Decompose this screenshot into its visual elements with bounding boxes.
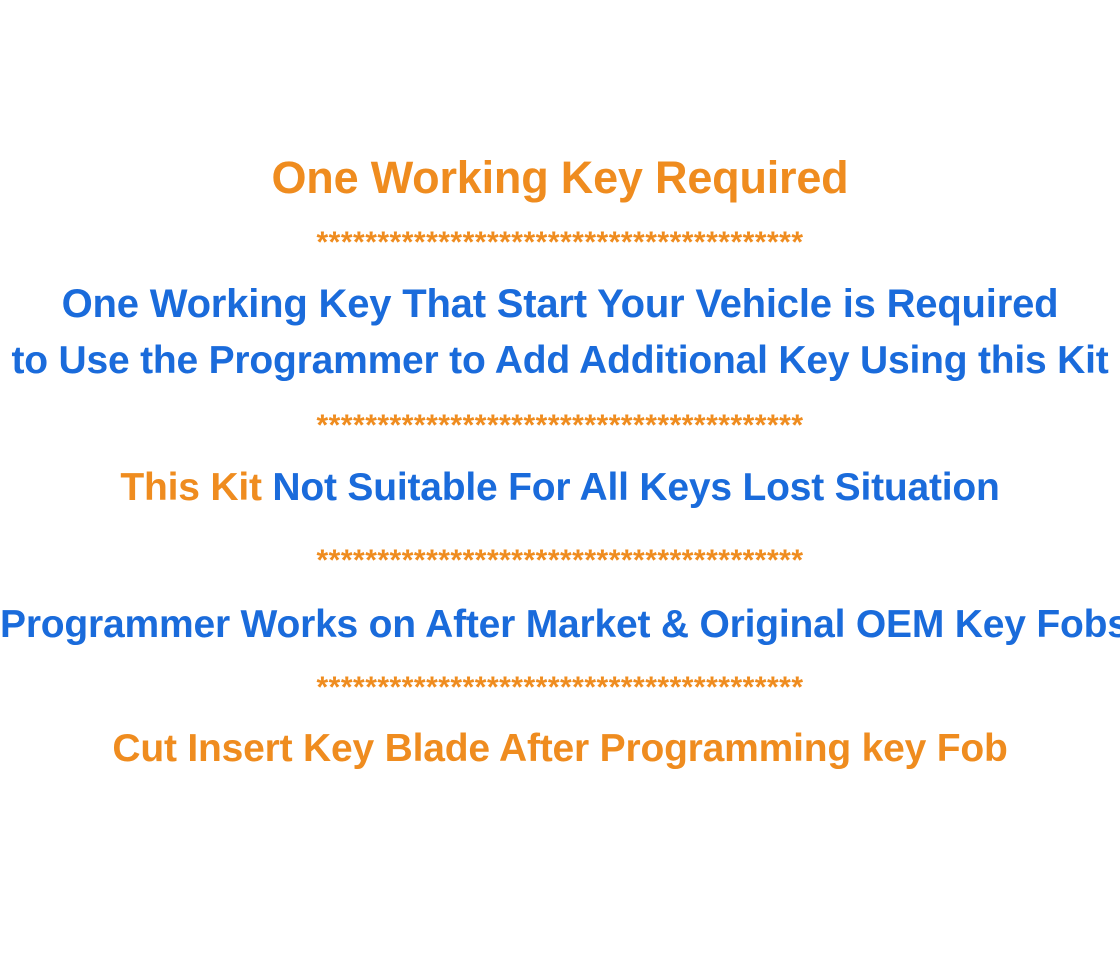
page-title: One Working Key Required xyxy=(0,152,1120,204)
asterisk-divider-2: **************************************** xyxy=(0,411,1120,441)
this-kit-emphasis: This Kit xyxy=(120,466,261,509)
not-suitable-statement: This Kit Not Suitable For All Keys Lost … xyxy=(0,465,1120,511)
requirement-line-1: One Working Key That Start Your Vehicle … xyxy=(0,281,1120,327)
key-programming-info-card: One Working Key Required ***************… xyxy=(0,0,1120,956)
cut-blade-note: Cut Insert Key Blade After Programming k… xyxy=(0,726,1120,772)
asterisk-divider-1: **************************************** xyxy=(0,228,1120,258)
asterisk-divider-3: **************************************** xyxy=(0,546,1120,576)
programmer-compatibility-statement: Programmer Works on After Market & Origi… xyxy=(0,602,1120,648)
not-suitable-remainder: Not Suitable For All Keys Lost Situation xyxy=(262,466,1000,509)
requirement-line-2: to Use the Programmer to Add Additional … xyxy=(0,338,1120,384)
asterisk-divider-4: **************************************** xyxy=(0,673,1120,703)
